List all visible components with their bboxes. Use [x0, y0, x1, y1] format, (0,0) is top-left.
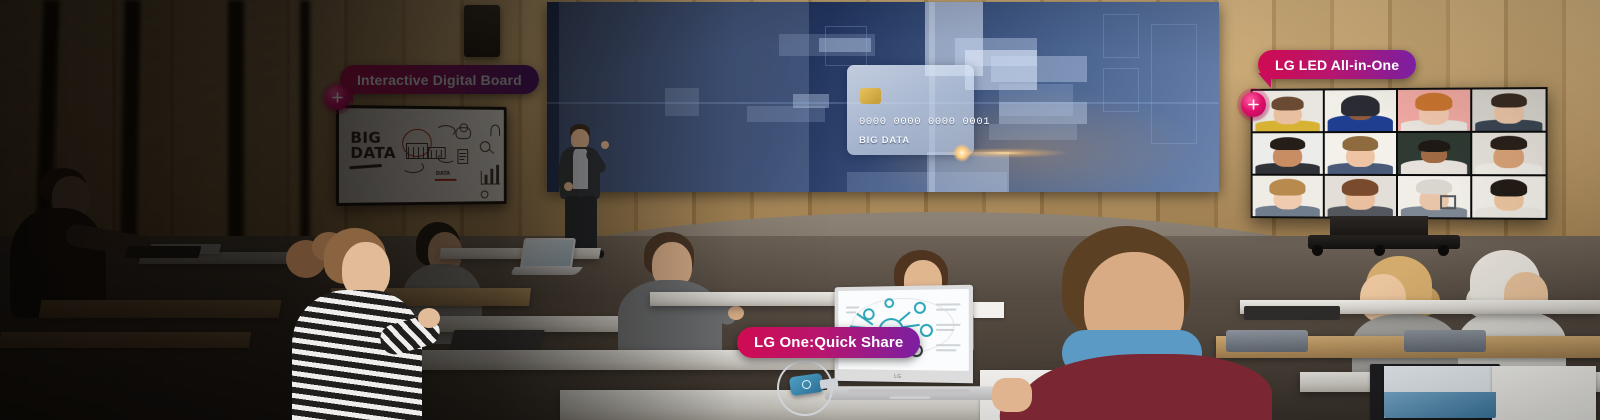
- diagram-node: [863, 308, 875, 320]
- striped-shirt-student: [268, 228, 448, 420]
- bench-row: [0, 332, 251, 348]
- sketch-arrow: [402, 161, 424, 173]
- wall-speaker: [464, 5, 500, 57]
- sketch-up-arrow: [490, 125, 500, 137]
- lens-flare-core: [953, 144, 971, 162]
- whiteboard-underline: [349, 164, 382, 169]
- participant-tile[interactable]: [1398, 133, 1470, 174]
- sketch-data-label: DATA: [436, 171, 450, 177]
- laptop-brand-mark: LG: [894, 374, 901, 380]
- stand-caster: [1312, 245, 1323, 256]
- sketch-red-underline: [435, 179, 457, 181]
- card-number: 0000 0000 0000 0001: [859, 116, 967, 128]
- foreground-student: [1000, 226, 1300, 420]
- bench-row: [38, 300, 281, 318]
- participant-tile[interactable]: [1398, 90, 1470, 131]
- hotspot-label-interactive-digital-board[interactable]: Interactive Digital Board: [340, 65, 539, 94]
- card-chip-icon: [860, 88, 881, 104]
- lecture-hall-scene: 0000 0000 0000 0001 BIG DATA BIG DATA: [0, 0, 1600, 420]
- sketch-circle-small: [481, 190, 489, 198]
- diagram-node: [914, 302, 926, 314]
- sketch-arrow: [436, 125, 456, 137]
- whiteboard-heading: BIG DATA: [350, 131, 396, 162]
- whiteboard-surface: BIG DATA: [339, 108, 504, 203]
- seat-pad: [1404, 330, 1486, 352]
- interactive-digital-board[interactable]: BIG DATA: [336, 105, 507, 206]
- hotspot-label-lg-one-quick-share[interactable]: LG One:Quick Share: [737, 327, 920, 358]
- led-wall-stand-neck: [1330, 216, 1428, 236]
- participant-tile[interactable]: [1253, 133, 1323, 174]
- video-conference-grid: [1253, 89, 1546, 218]
- card-brand-label: BIG DATA: [859, 135, 910, 146]
- desk-book: [125, 246, 202, 258]
- diagram-node: [920, 324, 933, 337]
- main-projection-screen: 0000 0000 0000 0001 BIG DATA: [547, 2, 1219, 192]
- diagram-node: [884, 298, 894, 308]
- participant-tile[interactable]: [1398, 176, 1470, 217]
- notebook-artwork: [1384, 392, 1496, 418]
- tablet: [450, 330, 545, 350]
- sketch-gear: [459, 123, 468, 132]
- participant-tile[interactable]: [1325, 90, 1396, 131]
- plus-icon[interactable]: [1241, 92, 1266, 117]
- participant-tile[interactable]: [1253, 176, 1323, 217]
- participant-tile[interactable]: [1472, 133, 1545, 175]
- student-laptop: [508, 238, 574, 282]
- participant-tile[interactable]: [1472, 176, 1545, 218]
- sketch-arrow: [438, 153, 456, 163]
- credit-card-graphic: 0000 0000 0000 0001 BIG DATA: [847, 65, 974, 155]
- handout: [1492, 366, 1596, 420]
- hotspot-label-lg-led-all-in-one[interactable]: LG LED All-in-One: [1258, 50, 1416, 79]
- participant-tile[interactable]: [1472, 89, 1545, 131]
- participant-tile[interactable]: [1325, 176, 1396, 217]
- participant-tile[interactable]: [1325, 133, 1396, 174]
- hotspot-label-tail: [1258, 73, 1271, 88]
- lg-led-all-in-one-display[interactable]: [1251, 87, 1548, 220]
- plus-icon[interactable]: [325, 85, 350, 110]
